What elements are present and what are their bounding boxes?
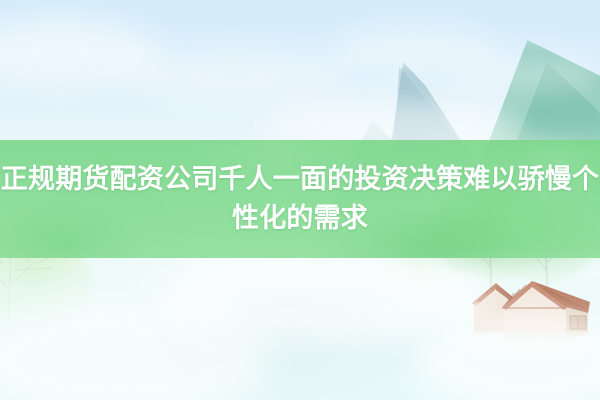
cloud (455, 52, 600, 94)
cloud (120, 46, 350, 101)
headline-line-2: 性化的需求 (232, 202, 368, 235)
headline-line-1: 正规期货配资公司千人一面的投资决策难以骄慢个 (1, 163, 599, 196)
headline-text: 正规期货配资公司千人一面的投资决策难以骄慢个 性化的需求 (0, 140, 600, 258)
banner-image: 正规期货配资公司千人一面的投资决策难以骄慢个 性化的需求 (0, 0, 600, 400)
